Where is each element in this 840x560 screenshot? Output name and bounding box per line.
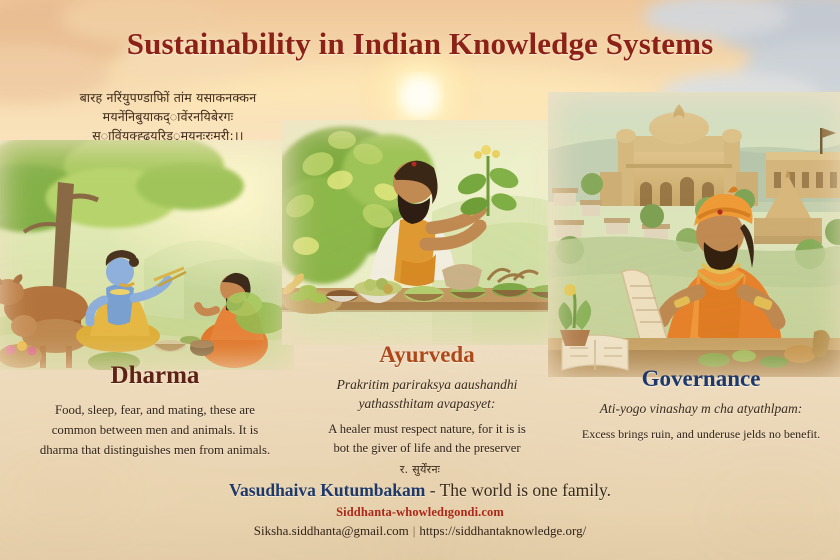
pillar-dharma-gloss: Food, sleep, fear, and mating, these are… [10, 400, 300, 460]
pillar-dharma-gloss-line-2: common between men and animals. It is [10, 420, 300, 440]
scene-dharma-illustration [0, 140, 294, 370]
footer-devanagari: र. सुर्येंरनः [0, 462, 840, 477]
poster-canvas: Sustainability in Indian Knowledge Syste… [0, 0, 840, 560]
pillar-governance-gloss-line-1: Excess brings ruin, and underuse jelds n… [562, 425, 840, 444]
shloka-line-2: मयनेंनिबुयाकद्ावेंरनयिबेरगः [36, 107, 300, 126]
footer-website[interactable]: Siddhanta-whowledɪgondi.com [0, 505, 840, 520]
scene-ayurveda-illustration [282, 120, 568, 345]
pillar-governance-gloss: Excess brings ruin, and underuse jelds n… [562, 425, 840, 444]
footer-url[interactable]: https://siddhantaknowledge.org/ [419, 523, 586, 538]
pillar-ayurveda-verse: Prakritim pariraksya aaushandhi yathasst… [292, 375, 562, 413]
pillar-dharma-gloss-line-3: dharma that distinguishes men from anima… [10, 440, 300, 460]
sanskrit-shloka: बारह नरिंयुपण्डाफिों तांम यसाकनक्कन मयने… [36, 88, 300, 145]
pillar-dharma-gloss-line-1: Food, sleep, fear, and mating, these are [10, 400, 300, 420]
shloka-line-1: बारह नरिंयुपण्डाफिों तांम यसाकनक्कन [36, 88, 300, 107]
pillar-governance: Governance Ati-yogo vinashay m cha atyat… [562, 366, 840, 444]
pillar-governance-verse: Ati-yogo vinashay m cha atyathlpam: [562, 399, 840, 418]
footer-motto: Vasudhaiva Kutumbakam - The world is one… [0, 480, 840, 501]
pillar-ayurveda-gloss-line-2: bot the giver of life and the preserver [292, 439, 562, 458]
footer-contact: Siksha.siddhanta@gmail.com|https://siddh… [0, 523, 840, 539]
pillar-governance-heading: Governance [562, 366, 840, 392]
pillar-ayurveda-verse-line-2: yathassthitam avapasyet: [292, 394, 562, 413]
footer-separator: | [409, 523, 420, 538]
scene-governance-illustration [548, 92, 840, 377]
pillar-ayurveda: Ayurveda Prakritim pariraksya aaushandhi… [292, 342, 562, 458]
pillar-governance-verse-line-1: Ati-yogo vinashay m cha atyathlpam: [562, 399, 840, 418]
pillar-dharma: Dharma Food, sleep, fear, and mating, th… [10, 362, 300, 460]
pillar-ayurveda-verse-line-1: Prakritim pariraksya aaushandhi [292, 375, 562, 394]
pillar-ayurveda-gloss-line-1: A healer must respect nature, for it is … [292, 420, 562, 439]
poster-footer: र. सुर्येंरनः Vasudhaiva Kutumbakam - Th… [0, 462, 840, 539]
footer-motto-rest: - The world is one family. [425, 480, 611, 500]
pillar-ayurveda-gloss: A healer must respect nature, for it is … [292, 420, 562, 458]
poster-title: Sustainability in Indian Knowledge Syste… [0, 26, 840, 62]
footer-email[interactable]: Siksha.siddhanta@gmail.com [254, 523, 409, 538]
pillar-ayurveda-heading: Ayurveda [292, 342, 562, 368]
pillar-dharma-heading: Dharma [10, 362, 300, 390]
footer-motto-bold: Vasudhaiva Kutumbakam [229, 480, 425, 500]
